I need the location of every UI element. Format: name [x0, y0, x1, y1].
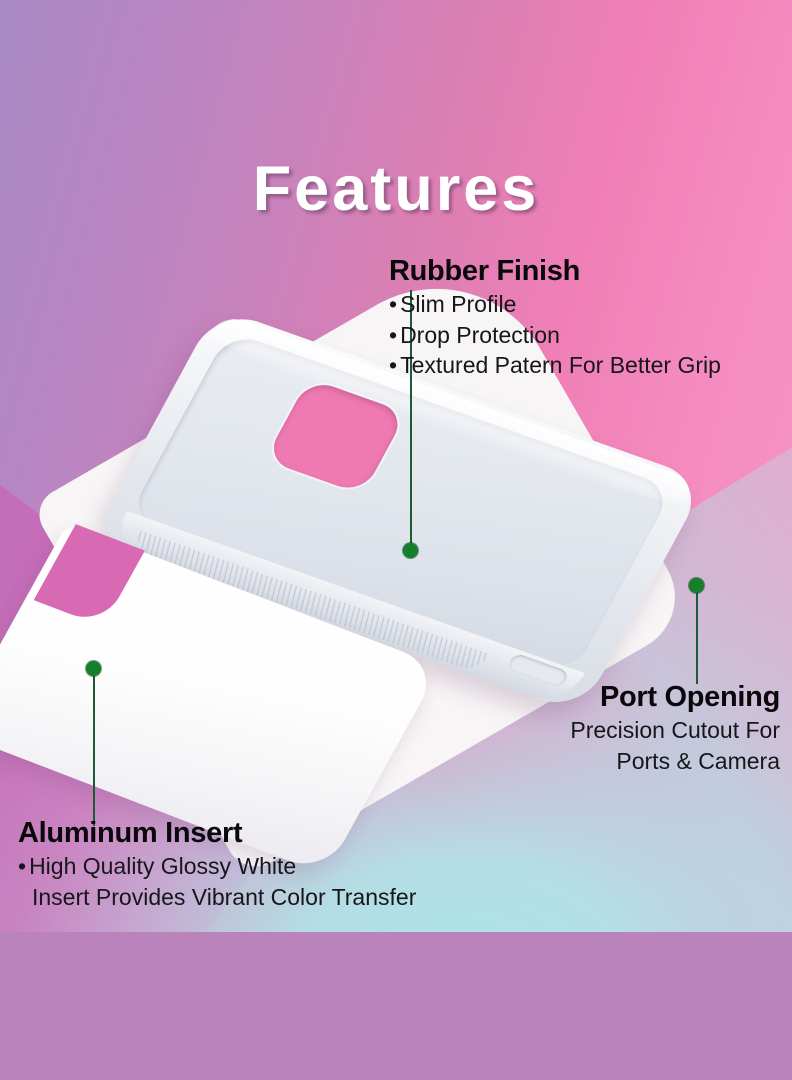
leader-line-port-opening [696, 592, 698, 684]
list-item-label: Insert Provides Vibrant Color Transfer [32, 884, 416, 910]
list-item-label: High Quality Glossy White [29, 853, 296, 879]
list-item: •Drop Protection [389, 320, 721, 351]
list-item: •Slim Profile [389, 289, 721, 320]
bullet-glyph: • [389, 352, 397, 378]
aluminum-insert-camera-notch [34, 524, 145, 626]
marker-dot-aluminum-insert [86, 661, 101, 676]
callout-bullets-rubber-finish: •Slim Profile •Drop Protection •Textured… [389, 289, 721, 381]
list-item-label: Textured Patern For Better Grip [400, 352, 721, 378]
list-item-label: Drop Protection [400, 322, 560, 348]
bullet-glyph: • [389, 291, 397, 317]
callout-heading-port-opening: Port Opening [492, 682, 780, 713]
marker-dot-rubber-finish [403, 543, 418, 558]
marker-dot-port-opening [689, 578, 704, 593]
list-item-continuation: Insert Provides Vibrant Color Transfer [18, 882, 416, 913]
callout-heading-rubber-finish: Rubber Finish [389, 256, 721, 287]
callout-aluminum-insert: Aluminum Insert •High Quality Glossy Whi… [18, 818, 416, 912]
callout-rubber-finish: Rubber Finish •Slim Profile •Drop Protec… [389, 256, 721, 381]
page-title: Features [0, 158, 792, 221]
callout-port-opening: Port Opening Precision Cutout For Ports … [492, 682, 780, 776]
callout-bullets-aluminum-insert: •High Quality Glossy White Insert Provid… [18, 851, 416, 912]
bullet-glyph: • [389, 322, 397, 348]
list-item: •High Quality Glossy White [18, 851, 416, 882]
callout-line-1: Precision Cutout For [492, 715, 780, 746]
list-item-label: Slim Profile [400, 291, 516, 317]
bullet-glyph: • [18, 853, 26, 879]
callout-line-2: Ports & Camera [492, 746, 780, 777]
callout-heading-aluminum-insert: Aluminum Insert [18, 818, 416, 849]
background-bottom-band [0, 932, 792, 1080]
features-infographic: Features Rubber Finish •Slim Profile •Dr… [0, 0, 792, 1080]
list-item: •Textured Patern For Better Grip [389, 350, 721, 381]
leader-line-aluminum-insert [93, 676, 95, 826]
